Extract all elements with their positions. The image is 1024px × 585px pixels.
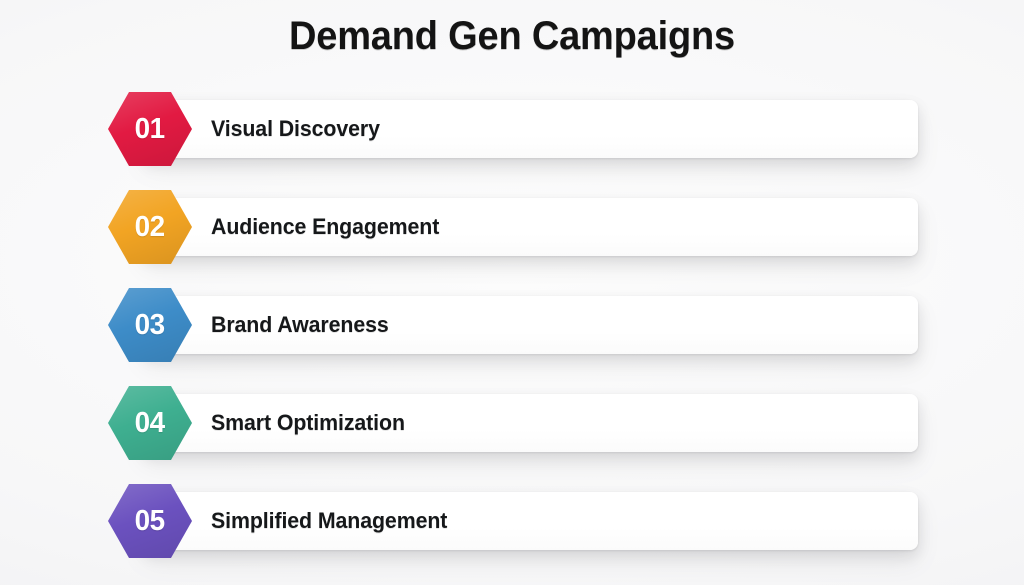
step-label: Smart Optimization (211, 386, 405, 460)
step-label: Simplified Management (211, 484, 447, 558)
step-label: Brand Awareness (211, 288, 389, 362)
step-number-label: 05 (135, 505, 165, 538)
step-number-label: 02 (135, 211, 165, 244)
step-label: Visual Discovery (211, 92, 380, 166)
list-item[interactable]: 02 Audience Engagement (0, 190, 1024, 264)
step-label: Audience Engagement (211, 190, 439, 264)
page-title: Demand Gen Campaigns (26, 14, 999, 59)
list-item[interactable]: 04 Smart Optimization (0, 386, 1024, 460)
steps-list: 01 Visual Discovery 02 Audience Engageme… (0, 92, 1024, 582)
list-item[interactable]: 03 Brand Awareness (0, 288, 1024, 362)
step-number-label: 04 (135, 407, 165, 440)
list-item[interactable]: 01 Visual Discovery (0, 92, 1024, 166)
step-number-label: 01 (135, 113, 165, 146)
step-number-label: 03 (135, 309, 165, 342)
infographic-slide: Demand Gen Campaigns 01 Visual Discovery… (0, 0, 1024, 585)
list-item[interactable]: 05 Simplified Management (0, 484, 1024, 558)
